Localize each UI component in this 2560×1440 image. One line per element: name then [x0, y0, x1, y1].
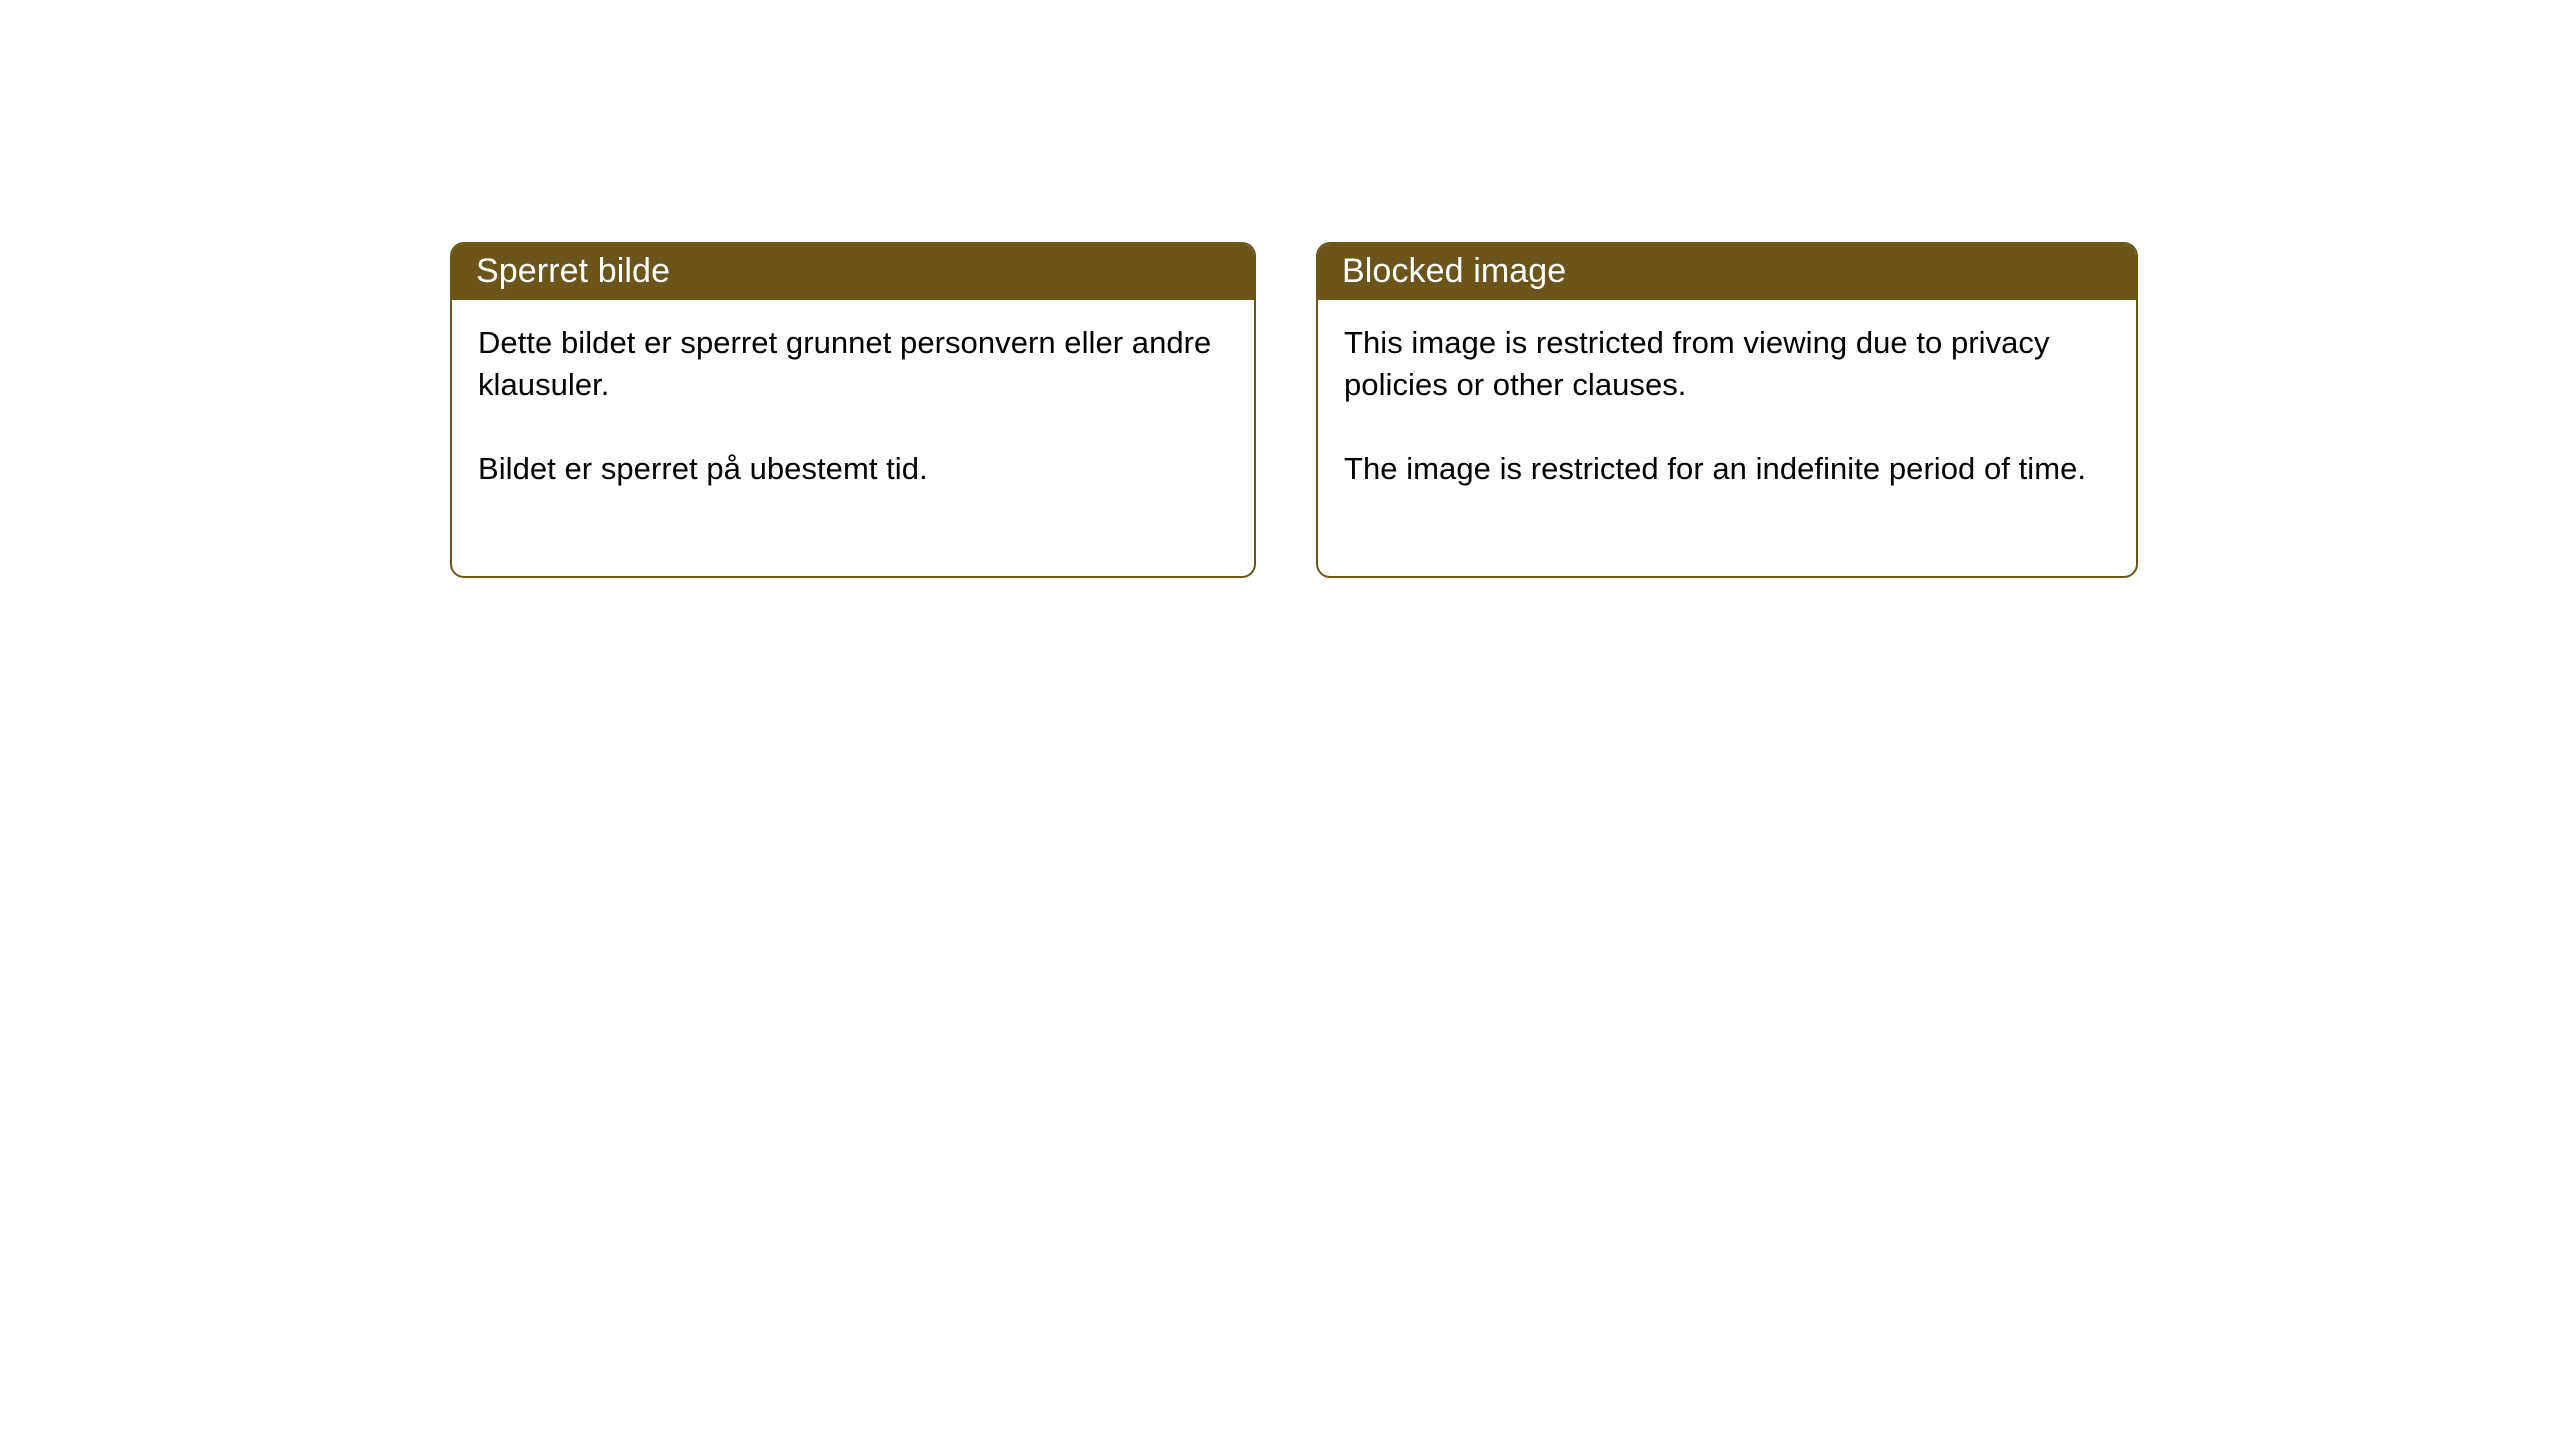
- card-body-english: This image is restricted from viewing du…: [1318, 300, 2136, 516]
- card-body-norwegian: Dette bildet er sperret grunnet personve…: [452, 300, 1254, 516]
- card-title-english: Blocked image: [1342, 254, 1566, 288]
- blocked-image-notice-card-english: Blocked image This image is restricted f…: [1316, 242, 2138, 578]
- page-canvas: Sperret bilde Dette bildet er sperret gr…: [0, 0, 2560, 1440]
- card-paragraph-secondary-english: The image is restricted for an indefinit…: [1344, 448, 2110, 490]
- card-paragraph-primary-english: This image is restricted from viewing du…: [1344, 322, 2110, 406]
- card-header-norwegian: Sperret bilde: [450, 242, 1256, 300]
- paragraph-spacer-english: [1344, 406, 2110, 448]
- paragraph-spacer-norwegian: [478, 406, 1228, 448]
- card-header-english: Blocked image: [1316, 242, 2138, 300]
- card-title-norwegian: Sperret bilde: [476, 254, 670, 288]
- card-paragraph-primary-norwegian: Dette bildet er sperret grunnet personve…: [478, 322, 1228, 406]
- blocked-image-notice-card-norwegian: Sperret bilde Dette bildet er sperret gr…: [450, 242, 1256, 578]
- card-paragraph-secondary-norwegian: Bildet er sperret på ubestemt tid.: [478, 448, 1228, 490]
